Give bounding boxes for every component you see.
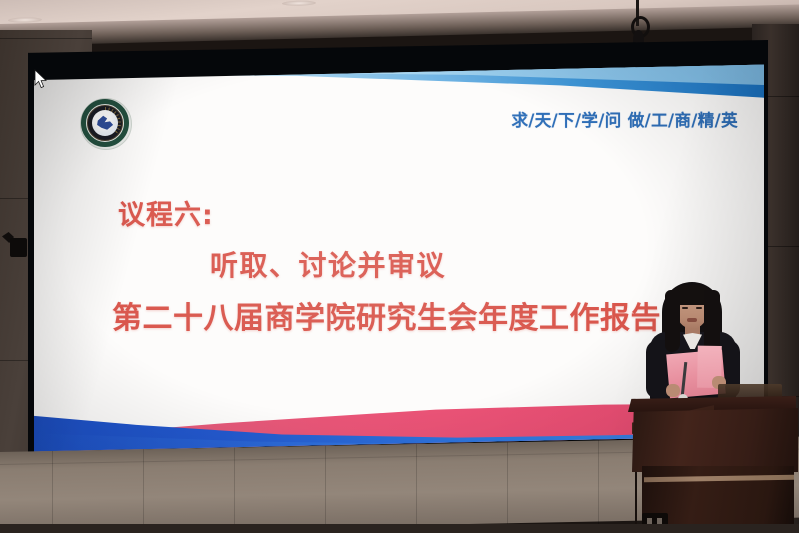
hand-left [666, 384, 680, 397]
slide-headline-line2: 听取、讨论并审议 [210, 244, 446, 284]
podium-cable [635, 472, 637, 524]
screenshot-scene: 求/天/下/学/问 做/工/商/精/英 议程六: 听取、讨论并审议 第二十八届商… [0, 0, 799, 533]
mouse-pointer-icon [34, 69, 48, 89]
wall-speaker-icon [2, 232, 28, 258]
slide-headline-line1: 议程六: [118, 193, 214, 232]
stage-area [620, 276, 799, 533]
floor [0, 524, 799, 533]
podium-body [632, 408, 798, 472]
slide-headline-line3: 第二十八届商学院研究生会年度工作报告 [112, 293, 661, 337]
ceiling-light-icon [282, 0, 316, 6]
hair-side-left [665, 290, 680, 352]
ceiling-light-icon [8, 17, 42, 23]
slide-slogan: 求/天/下/学/问 做/工/商/精/英 [511, 107, 738, 131]
hair-side-right [704, 290, 720, 354]
university-seal-icon [77, 95, 133, 151]
presenter [640, 276, 744, 401]
